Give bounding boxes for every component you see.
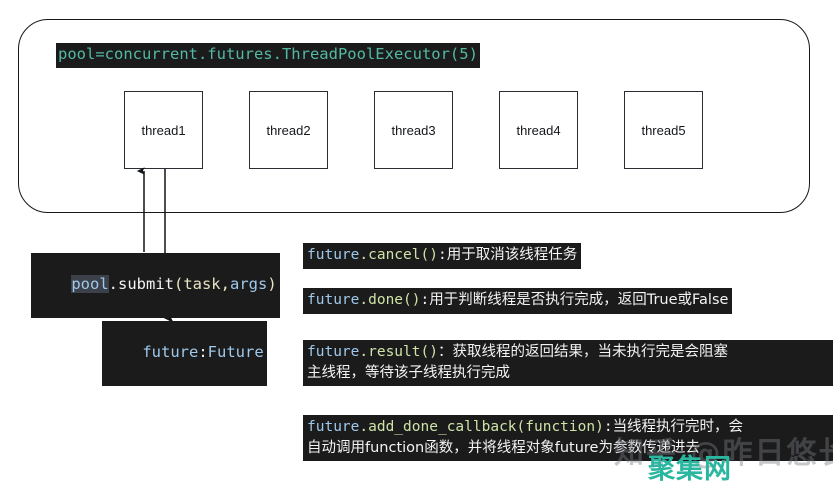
thread-label: thread4 [516,123,560,138]
thread-box-4: thread4 [499,91,578,169]
thread-box-3: thread3 [374,91,453,169]
diagram-canvas: pool=concurrent.futures.ThreadPoolExecut… [0,0,833,482]
cancel-separator: : [438,247,447,263]
pool-constructor-code: pool=concurrent.futures.ThreadPoolExecut… [56,43,480,68]
done-api: future [307,292,359,308]
thread-label: thread5 [641,123,685,138]
cancel-call: .cancel() [359,247,438,263]
done-call: .done() [359,292,420,308]
future-type: Future [208,343,264,361]
done-separator: : [421,292,430,308]
future-name: future [142,343,198,361]
submit-method: .submit [109,275,174,293]
future-object-label: future:Future [102,321,267,386]
thread-label: thread1 [141,123,185,138]
method-desc-cancel: future.cancel():用于取消该线程任务 [303,243,581,269]
submit-object: pool [71,275,108,293]
method-desc-done: future.done():用于判断线程是否执行完成，返回True或False [303,288,732,314]
cancel-description: 用于取消该线程任务 [447,247,578,263]
submit-close-paren: ) [267,275,276,293]
pool-submit-label: pool.submit(task,args) [31,253,280,318]
thread-box-1: thread1 [124,91,203,169]
callback-call: .add_done_callback(function) [359,419,603,435]
result-api: future [307,344,359,360]
callback-separator: : [604,419,613,435]
callback-api: future [307,419,359,435]
result-call: .result() [359,344,438,360]
thread-label: thread3 [391,123,435,138]
method-desc-result: future.result()：获取线程的返回结果，当未执行完是会阻塞 主线程，… [303,340,833,386]
submit-open-paren: (task, [174,275,230,293]
thread-box-5: thread5 [624,91,703,169]
thread-box-2: thread2 [249,91,328,169]
cancel-api: future [307,247,359,263]
method-desc-add-done-callback: future.add_done_callback(function):当线程执行… [303,415,833,461]
thread-label: thread2 [266,123,310,138]
done-description: 用于判断线程是否执行完成，返回True或False [429,292,728,308]
result-separator: ： [438,344,453,360]
submit-arg: args [230,275,267,293]
future-separator: : [198,343,207,361]
